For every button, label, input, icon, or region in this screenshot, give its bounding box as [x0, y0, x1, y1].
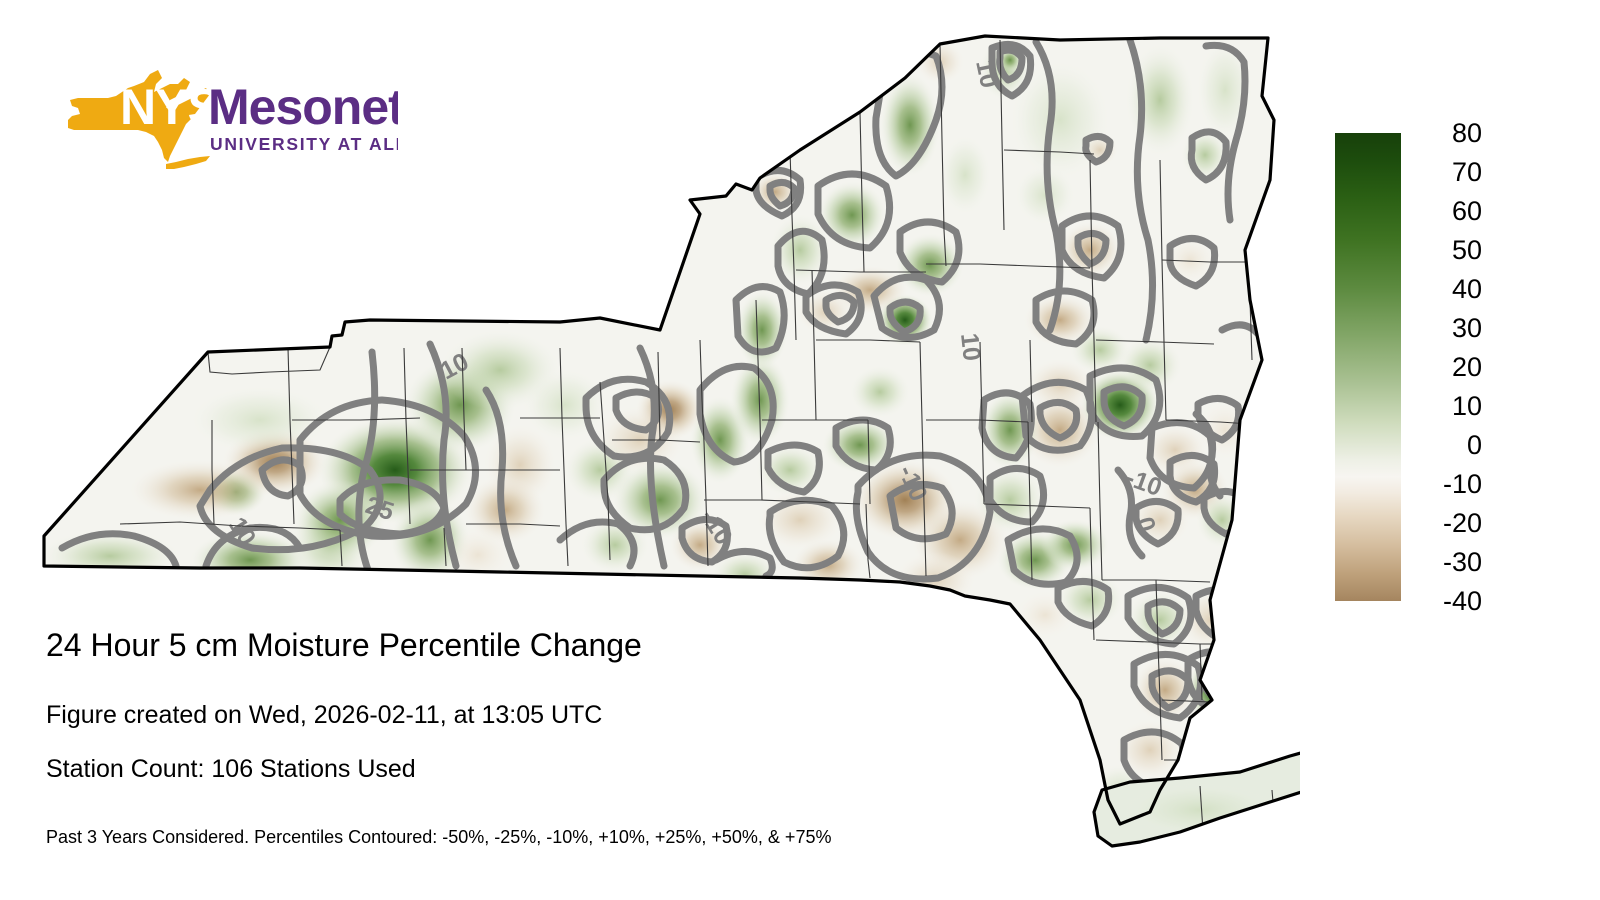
figure-created-text: Figure created on Wed, 2026-02-11, at 13…: [46, 700, 602, 730]
contour-label: 10: [955, 332, 986, 363]
colorbar-tick: 80: [1452, 120, 1482, 147]
colorbar-tick: 60: [1452, 198, 1482, 225]
colorbar-tick: -30: [1443, 549, 1482, 576]
colorbar-tick: -20: [1443, 510, 1482, 537]
colorbar: [1335, 133, 1401, 601]
colorbar-tick: 0: [1467, 432, 1482, 459]
colorbar-tick: 20: [1452, 354, 1482, 381]
figure-root: NYS Mesonet UNIVERSITY AT ALBANY: [0, 0, 1600, 900]
colorbar-tick-labels: 80 70 60 50 40 30 20 10 0 -10 -20 -30 -4…: [1412, 112, 1482, 622]
colorbar-tick: -10: [1443, 471, 1482, 498]
colorbar-tick: 10: [1452, 393, 1482, 420]
map-field-mainland: 10 10 10 25 10 -10 -10 -10 0: [0, 0, 1300, 880]
colorbar-tick: 70: [1452, 159, 1482, 186]
contour-label: 10: [970, 57, 1003, 90]
figure-footnote: Past 3 Years Considered. Percentiles Con…: [46, 826, 831, 848]
station-count-text: Station Count: 106 Stations Used: [46, 754, 416, 784]
colorbar-tick: 40: [1452, 276, 1482, 303]
map-panel: 10 10 10 25 10 -10 -10 -10 0: [0, 0, 1300, 880]
colorbar-tick: -40: [1443, 588, 1482, 615]
colorbar-gradient: [1335, 133, 1401, 601]
figure-title: 24 Hour 5 cm Moisture Percentile Change: [46, 626, 642, 664]
new-york-contour-map: 10 10 10 25 10 -10 -10 -10 0: [0, 0, 1300, 880]
colorbar-tick: 50: [1452, 237, 1482, 264]
colorbar-tick: 30: [1452, 315, 1482, 342]
